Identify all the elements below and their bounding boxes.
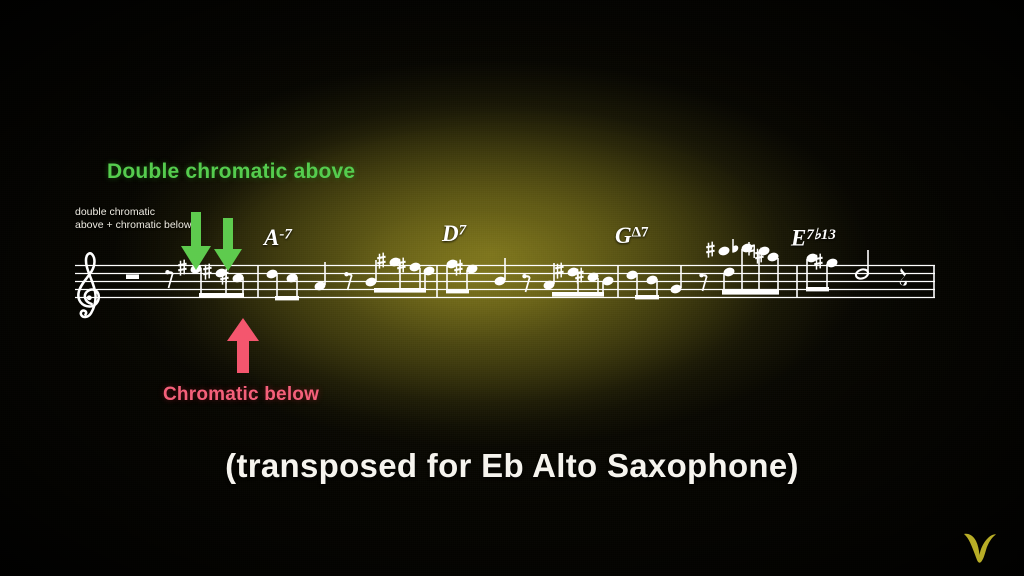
- chord-symbol-1: A-7: [264, 225, 292, 251]
- half-rest-icon: [126, 275, 139, 280]
- small-annotation-line1: double chromatic: [75, 206, 191, 219]
- chord-root: E: [791, 225, 806, 250]
- caption-label: (transposed for Eb Alto Saxophone): [0, 447, 1024, 485]
- arrow-down-icon: [180, 212, 212, 274]
- red-heading-label: Chromatic below: [163, 384, 319, 406]
- green-heading-label: Double chromatic above: [107, 160, 355, 184]
- small-annotation-note: double chromatic above + chromatic below: [75, 206, 191, 232]
- chord-extension: Δ7: [632, 225, 649, 241]
- quarter-rest-icon: [900, 268, 907, 286]
- treble-clef-icon: [78, 253, 98, 317]
- chord-root: G: [615, 223, 632, 248]
- chord-symbol-4: E7♭13: [791, 225, 836, 251]
- music-staff: [0, 0, 1024, 576]
- chord-symbol-2: D7: [442, 221, 466, 247]
- arrow-up-icon: [226, 318, 260, 374]
- note-group-3: [445, 258, 614, 297]
- arrow-down-icon: [213, 218, 243, 274]
- chord-extension: 7♭13: [806, 227, 836, 243]
- note-group-2: [265, 253, 435, 301]
- chord-extension: 7: [459, 223, 467, 239]
- eighth-rest-icon: [165, 270, 173, 288]
- small-annotation-line2: above + chromatic below: [75, 219, 191, 232]
- chord-root: A: [264, 225, 279, 250]
- note-group-5: [805, 250, 907, 291]
- chord-extension: -7: [279, 227, 292, 243]
- slide-canvas: A-7 D7 GΔ7 E7♭13 Double chromatic above …: [0, 0, 1024, 576]
- chord-root: D: [442, 221, 459, 246]
- v-logo-icon: [958, 522, 1002, 566]
- chord-symbol-3: GΔ7: [615, 223, 649, 249]
